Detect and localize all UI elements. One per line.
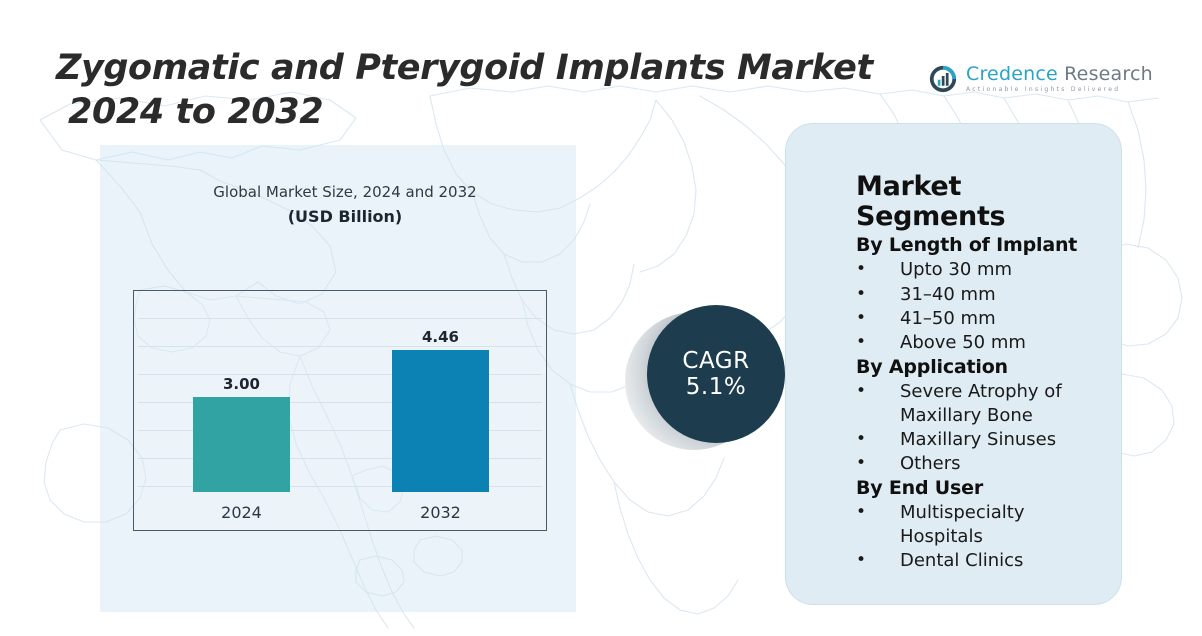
bullet-icon: • bbox=[856, 549, 900, 572]
cagr-circle: CAGR 5.1% bbox=[647, 305, 785, 443]
cagr-badge: CAGR 5.1% bbox=[625, 305, 790, 460]
bar-value-2024: 3.00 bbox=[193, 375, 290, 393]
chart-gridline bbox=[138, 318, 542, 319]
segment-item[interactable]: • Above 50 mm bbox=[856, 331, 1107, 355]
bar-chart: 3.00 2024 4.46 2032 bbox=[133, 290, 547, 531]
cagr-value: 5.1% bbox=[686, 374, 746, 400]
market-segments-heading: Market Segments bbox=[856, 172, 1107, 232]
segment-item[interactable]: • Maxillary Sinuses bbox=[856, 428, 1107, 452]
bar-2032[interactable] bbox=[392, 350, 489, 492]
segment-group-title: By End User bbox=[856, 477, 1107, 501]
segment-item-label: Maxillary Sinuses bbox=[900, 428, 1107, 452]
logo-brand-secondary: Research bbox=[1058, 63, 1153, 85]
chart-gridline bbox=[138, 346, 542, 347]
segment-item-label: Multispecialty Hospitals bbox=[900, 501, 1107, 549]
segment-item-label: Upto 30 mm bbox=[900, 258, 1107, 282]
bullet-icon: • bbox=[856, 428, 900, 451]
bullet-icon: • bbox=[856, 501, 900, 524]
bar-chart-circle-icon bbox=[928, 64, 958, 94]
market-segments-panel: Market Segments By Length of Implant • U… bbox=[785, 123, 1122, 605]
segment-item-label: 31–40 mm bbox=[900, 283, 1107, 307]
title-line-2: 2024 to 2032 bbox=[56, 90, 846, 134]
chart-subtitle: (USD Billion) bbox=[130, 207, 560, 226]
segment-item-label: Above 50 mm bbox=[900, 331, 1107, 355]
segment-item[interactable]: • Multispecialty Hospitals bbox=[856, 501, 1107, 549]
cagr-label: CAGR bbox=[682, 348, 749, 374]
segment-group-title: By Length of Implant bbox=[856, 234, 1107, 258]
bar-2024[interactable] bbox=[193, 397, 290, 492]
segment-item[interactable]: • Upto 30 mm bbox=[856, 258, 1107, 282]
segment-item[interactable]: • 31–40 mm bbox=[856, 283, 1107, 307]
logo-brand-name: Credence Research bbox=[966, 65, 1153, 84]
brand-logo[interactable]: Credence Research Actionable Insights De… bbox=[928, 64, 1153, 94]
segment-item[interactable]: • Severe Atrophy of Maxillary Bone bbox=[856, 380, 1107, 428]
logo-wordmark: Credence Research Actionable Insights De… bbox=[966, 65, 1153, 93]
segment-item-label: Severe Atrophy of Maxillary Bone bbox=[900, 380, 1107, 428]
segment-group-application: By Application • Severe Atrophy of Maxil… bbox=[856, 356, 1107, 476]
segment-item[interactable]: • Dental Clinics bbox=[856, 549, 1107, 573]
bar-label-2032: 2032 bbox=[392, 503, 489, 522]
segment-item-label: 41–50 mm bbox=[900, 307, 1107, 331]
page-title: Zygomatic and Pterygoid Implants Market … bbox=[56, 46, 846, 134]
segment-item[interactable]: • 41–50 mm bbox=[856, 307, 1107, 331]
logo-brand-primary: Credence bbox=[966, 63, 1058, 85]
bullet-icon: • bbox=[856, 307, 900, 330]
bullet-icon: • bbox=[856, 380, 900, 403]
bullet-icon: • bbox=[856, 452, 900, 475]
segment-group-end-user: By End User • Multispecialty Hospitals •… bbox=[856, 477, 1107, 573]
segment-item-label: Others bbox=[900, 452, 1107, 476]
bullet-icon: • bbox=[856, 258, 900, 281]
segment-item-label: Dental Clinics bbox=[900, 549, 1107, 573]
title-line-1: Zygomatic and Pterygoid Implants Market bbox=[56, 46, 846, 90]
infographic-canvas: Zygomatic and Pterygoid Implants Market … bbox=[0, 0, 1202, 636]
bar-value-2032: 4.46 bbox=[392, 328, 489, 346]
segment-group-title: By Application bbox=[856, 356, 1107, 380]
bullet-icon: • bbox=[856, 283, 900, 306]
logo-tagline: Actionable Insights Delivered bbox=[966, 87, 1153, 93]
segment-group-length: By Length of Implant • Upto 30 mm • 31–4… bbox=[856, 234, 1107, 354]
segment-item[interactable]: • Others bbox=[856, 452, 1107, 476]
bar-label-2024: 2024 bbox=[193, 503, 290, 522]
chart-title: Global Market Size, 2024 and 2032 bbox=[130, 183, 560, 201]
bullet-icon: • bbox=[856, 331, 900, 354]
